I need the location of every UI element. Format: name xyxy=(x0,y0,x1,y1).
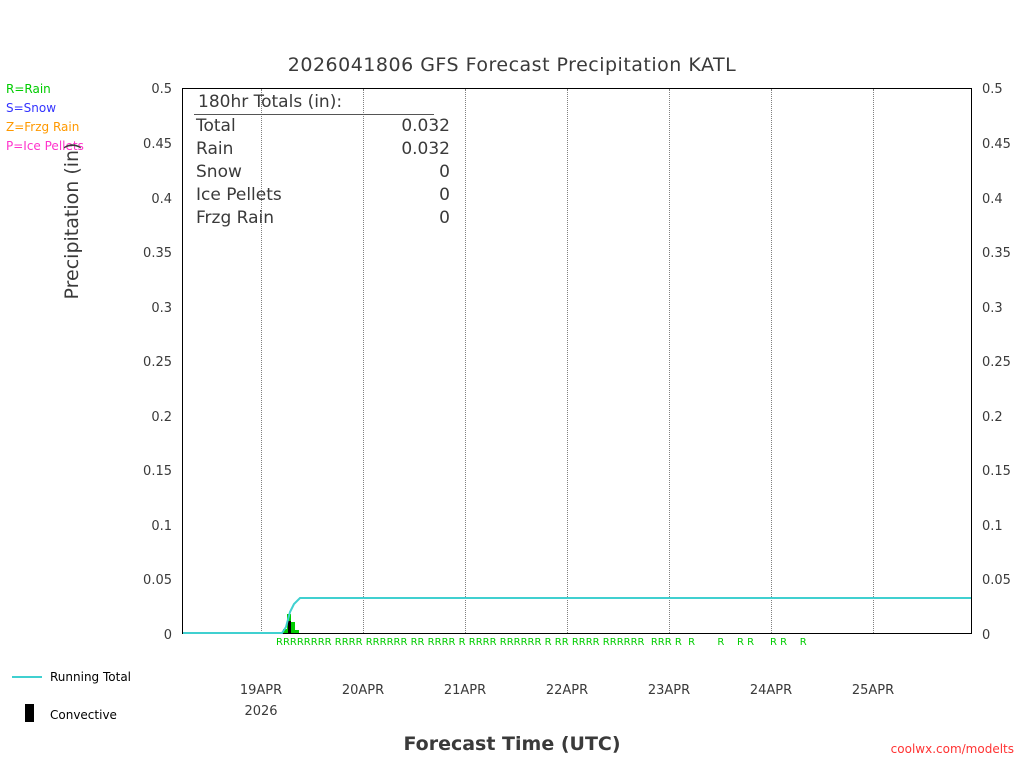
convective-swatch xyxy=(25,704,34,722)
convective-legend-label: Convective xyxy=(50,708,117,722)
convective-bar xyxy=(288,621,291,633)
precip-type-markers: RRRRRRRR RRRR RRRRRR RR RRRR R RRRR RRRR… xyxy=(276,637,807,648)
convective-bars xyxy=(288,621,291,633)
precip-bar xyxy=(295,630,299,633)
running-total-swatch xyxy=(12,676,42,678)
running-total-legend-label: Running Total xyxy=(50,670,131,684)
precip-bar xyxy=(291,622,295,633)
x-axis-label: Forecast Time (UTC) xyxy=(0,733,1024,755)
credit-watermark: coolwx.com/modelts xyxy=(891,742,1014,756)
chart-canvas xyxy=(0,0,1024,768)
running-total-line xyxy=(183,598,971,633)
